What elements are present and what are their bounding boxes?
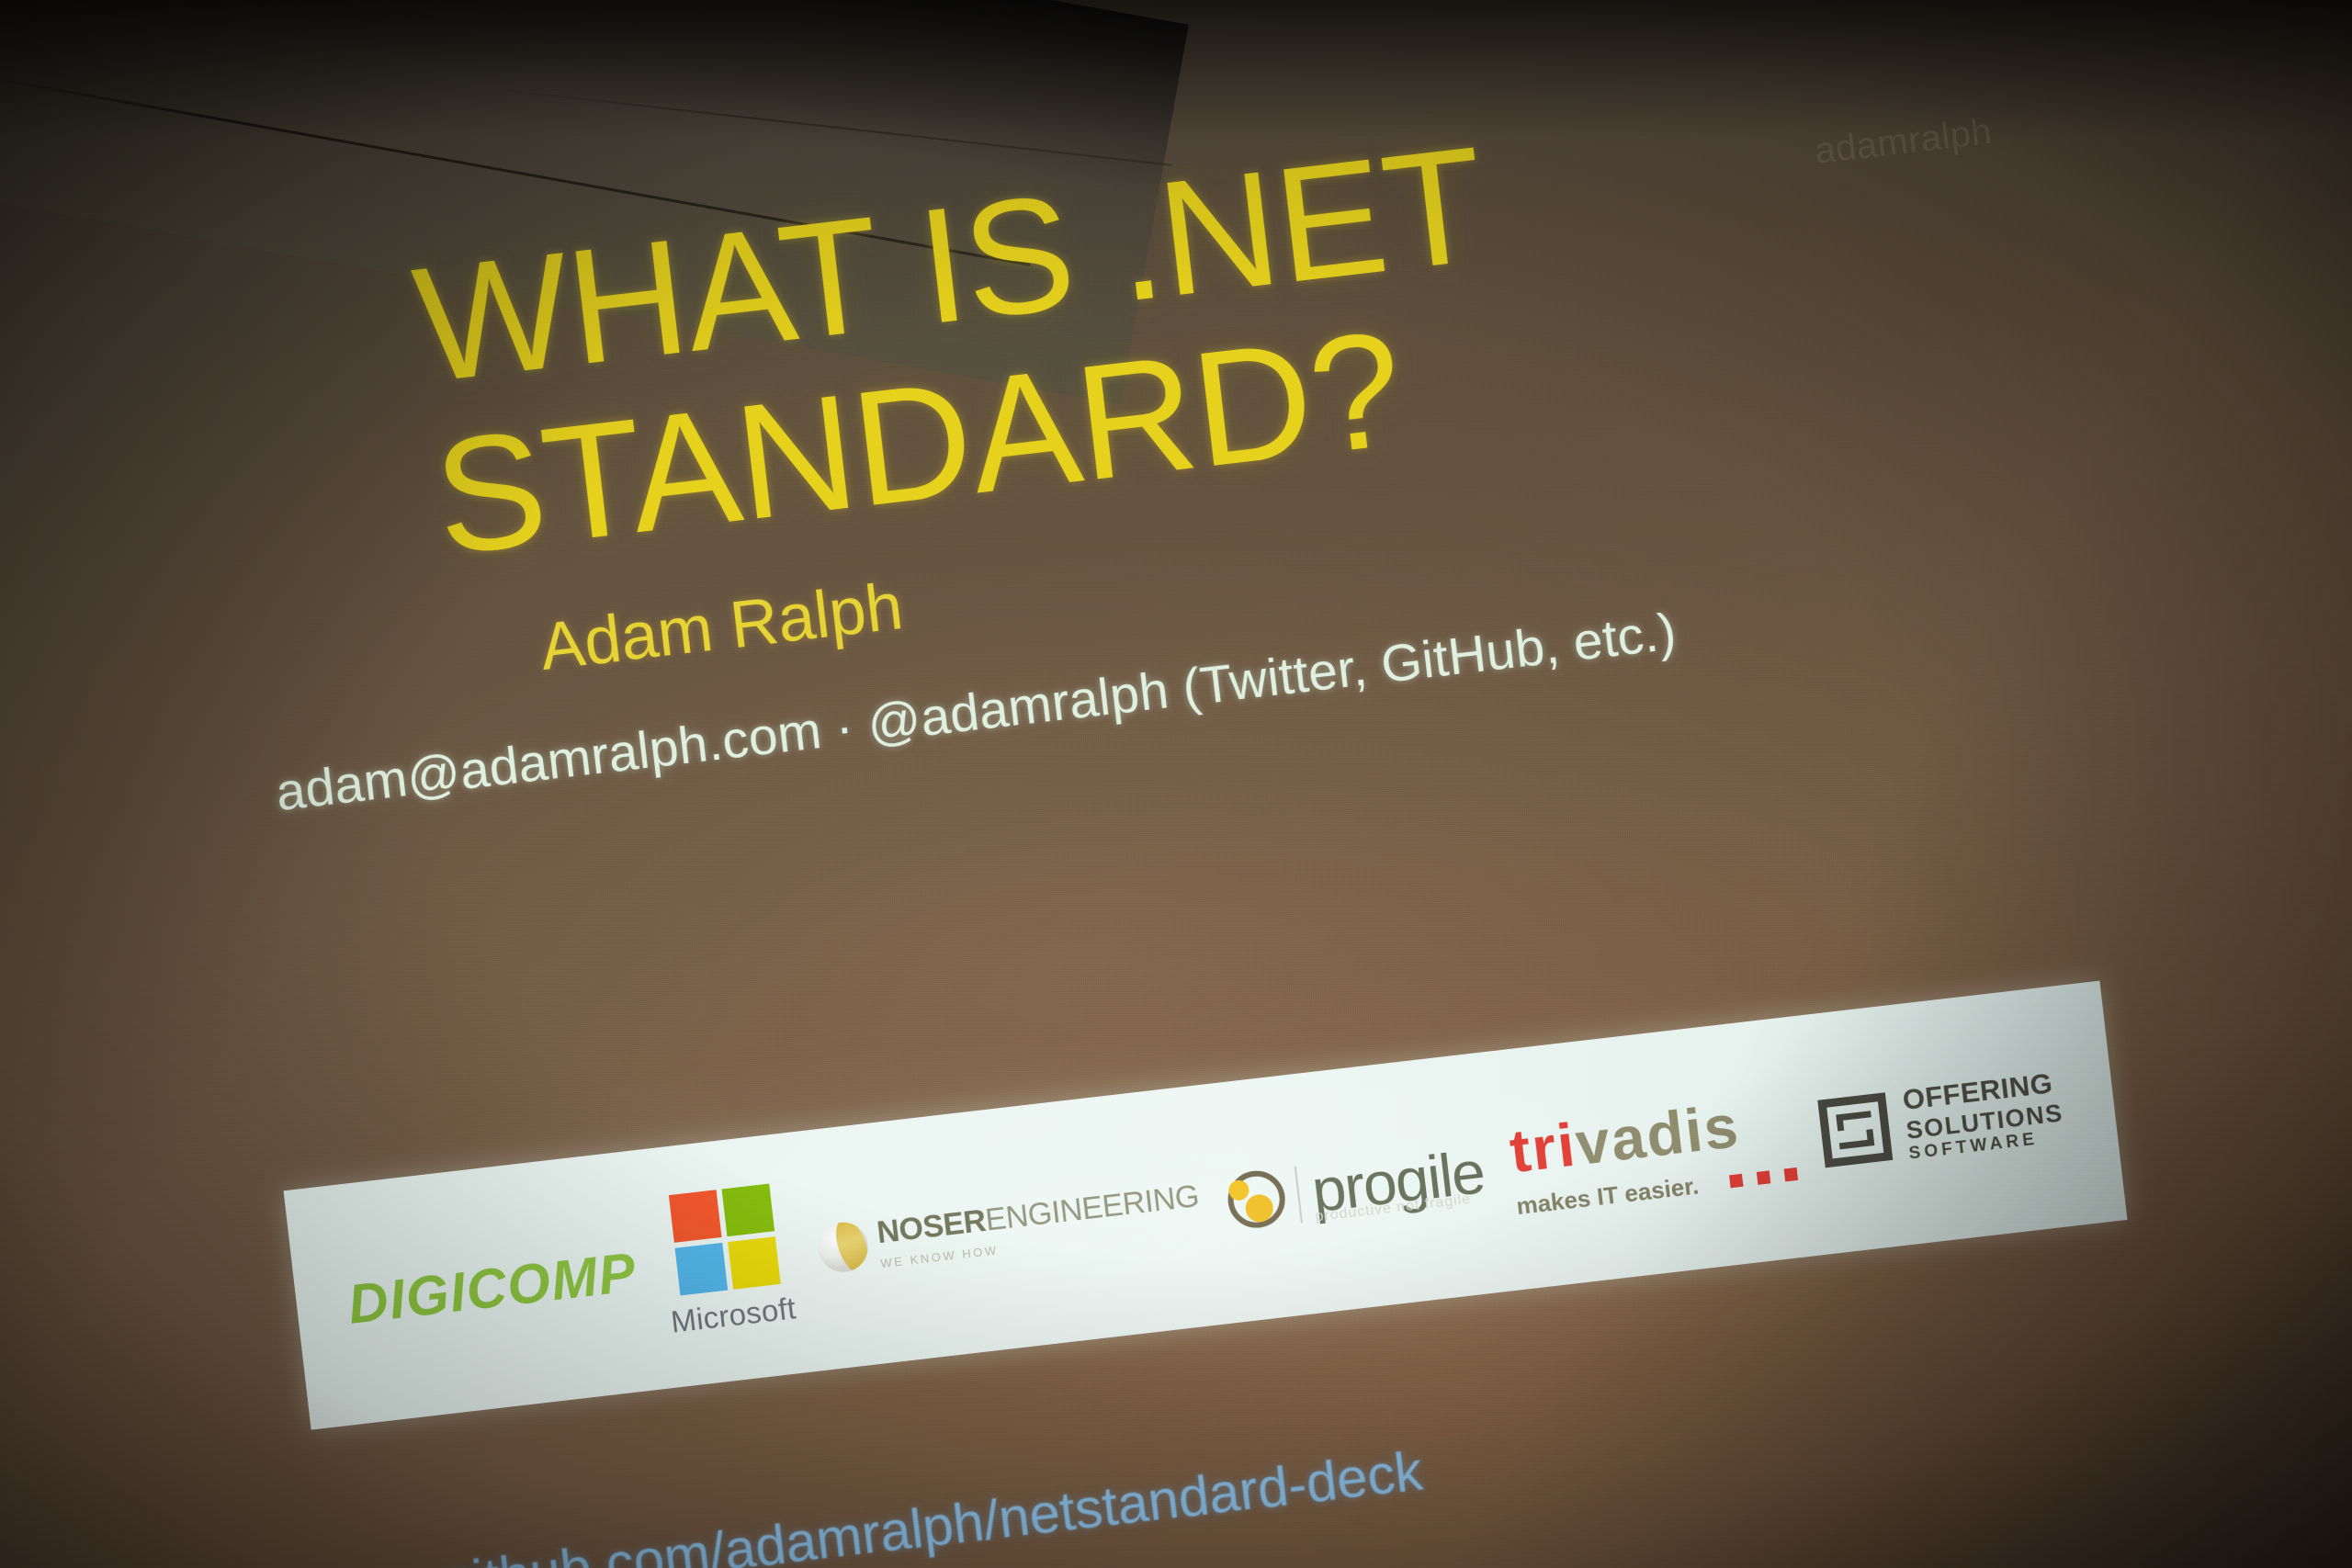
sensor-grain [0,0,2352,1568]
projected-slide-photo: WHAT IS .NET STANDARD? Adam Ralph adam@a… [0,0,2352,1568]
